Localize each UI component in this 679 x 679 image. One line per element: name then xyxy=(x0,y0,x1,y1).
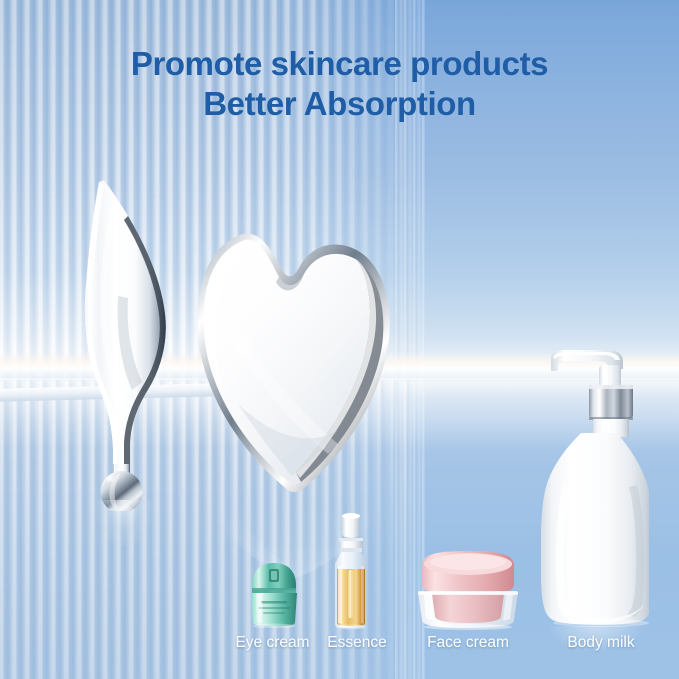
gua-sha-scraper xyxy=(188,222,403,502)
cream-jar-icon xyxy=(243,560,305,628)
label-body-milk: Body milk xyxy=(546,634,656,652)
massage-wand xyxy=(58,176,183,511)
label-essence: Essence xyxy=(318,634,396,652)
headline-line-1: Promote skincare products xyxy=(0,44,679,84)
face-cream-product xyxy=(412,548,524,630)
body-milk-product xyxy=(541,345,649,630)
product-marketing-image: Promote skincare products Better Absorpt… xyxy=(0,0,679,679)
wand-reflection xyxy=(96,500,152,546)
dropper-bottle-icon xyxy=(327,512,375,630)
label-face-cream: Face cream xyxy=(415,634,521,652)
label-eye-cream: Eye cream xyxy=(230,634,315,652)
headline-line-2: Better Absorption xyxy=(0,84,679,124)
essence-product xyxy=(327,512,375,630)
pump-bottle-icon xyxy=(541,345,649,630)
eye-cream-product xyxy=(243,560,305,628)
headline: Promote skincare products Better Absorpt… xyxy=(0,44,679,124)
product-label-row: Eye cream Essence Face cream Body milk xyxy=(0,634,679,656)
cosmetic-jar-icon xyxy=(412,548,524,630)
